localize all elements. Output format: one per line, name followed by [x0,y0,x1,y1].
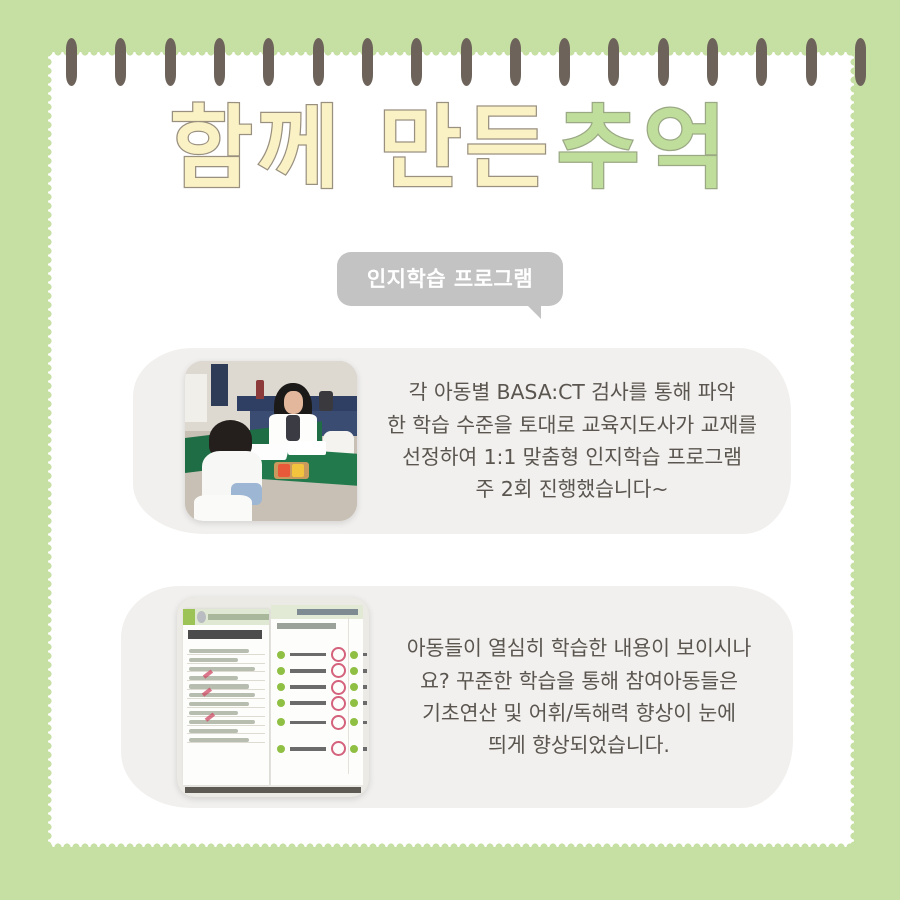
workbook-page-left [183,609,269,785]
card-2-body-text: 아동들이 열심히 학습한 내용이 보이시나 요? 꾸준한 학습을 통해 참여아동… [369,632,793,762]
workbook-bottom-edge [185,787,362,793]
math-problem-row [350,648,365,661]
photo-workbook-pages [177,597,369,797]
math-problem-row [350,716,365,729]
header-stamp-icon [197,611,207,624]
spiral-ring [165,38,176,86]
spiral-ring [313,38,324,86]
math-problem-row [350,664,365,677]
card-2-line-4: 띄게 향상되었습니다. [387,729,771,761]
spiral-ring [362,38,373,86]
spiral-ring [559,38,570,86]
workbook-page-right [271,605,363,785]
teacher-vest [286,415,300,441]
spiral-binding [66,38,866,90]
math-problem-row [277,664,360,677]
math-problem-row [277,716,360,729]
math-problem-row [350,697,365,710]
chair-front [194,495,252,521]
card-1-line-1: 각 아동별 BASA:CT 검사를 통해 파악 [375,376,769,408]
card-1-line-4: 주 2회 진행했습니다~ [375,473,769,505]
card-2-line-1: 아동들이 열심히 학습한 내용이 보이시나 [387,632,771,664]
math-problem-row [277,742,360,755]
math-problem-row [277,697,360,710]
subtitle-badge: 인지학습 프로그램 [337,252,563,306]
math-problem-list [277,630,360,778]
basa-ct-title-bar [297,609,358,615]
teacher-face [284,391,303,413]
spiral-ring [115,38,126,86]
spiral-ring [263,38,274,86]
page-title-yellow: 함께 만든 [170,96,553,201]
spiral-ring [806,38,817,86]
classroom-scene-illustration [185,361,357,521]
spiral-ring [214,38,225,86]
spiral-ring [658,38,669,86]
photo-classroom-one-on-one-session [185,361,357,521]
math-problem-row [350,680,365,693]
workbook-left-header-bar [183,609,269,625]
spiral-ring [756,38,767,86]
math-problem-row [277,648,360,661]
math-problem-row [277,680,360,693]
header-accent-block [183,609,195,625]
handwriting-lines [187,646,265,776]
column-divider [348,616,349,774]
cabinet-left [185,374,207,422]
content-card-2: 아동들이 열심히 학습한 내용이 보이시나 요? 꾸준한 학습을 통해 참여아동… [121,586,793,808]
card-2-line-3: 기초연산 및 어휘/독해력 향상이 눈에 [387,697,771,729]
workbook-left-title-bar [188,630,262,639]
page-title-green: 추억 [557,96,731,201]
worksheet-paper-b [288,441,326,455]
page-title: 함께 만든 추억 [0,104,900,194]
spiral-ring [461,38,472,86]
math-problem-row [350,742,365,755]
spiral-ring [411,38,422,86]
pencil-tray [274,462,308,480]
wall-panel-dark [211,364,228,406]
spiral-ring [707,38,718,86]
card-1-line-2: 한 학습 수준을 토대로 교육지도사가 교재를 [375,409,769,441]
spiral-ring [608,38,619,86]
spiral-ring [855,38,866,86]
card-1-body-text: 각 아동별 BASA:CT 검사를 통해 파악 한 학습 수준을 토대로 교육지… [357,376,791,506]
header-title-bar [208,614,269,620]
poster-canvas: 함께 만든 추억 인지학습 프로그램 [0,0,900,900]
speaker-icon [319,391,333,410]
instruction-bar [277,623,336,629]
card-1-line-3: 선정하여 1:1 맞춤형 인지학습 프로그램 [375,441,769,473]
spiral-ring [510,38,521,86]
shelf-figurine-icon [256,380,265,399]
workbook-scene-illustration [177,597,369,797]
math-problem-list-column-2 [350,630,365,778]
card-2-line-2: 요? 꾸준한 학습을 통해 참여아동들은 [387,665,771,697]
spiral-ring [66,38,77,86]
content-card-1: 각 아동별 BASA:CT 검사를 통해 파악 한 학습 수준을 토대로 교육지… [133,348,791,534]
subtitle-badge-wrap: 인지학습 프로그램 [0,252,900,306]
